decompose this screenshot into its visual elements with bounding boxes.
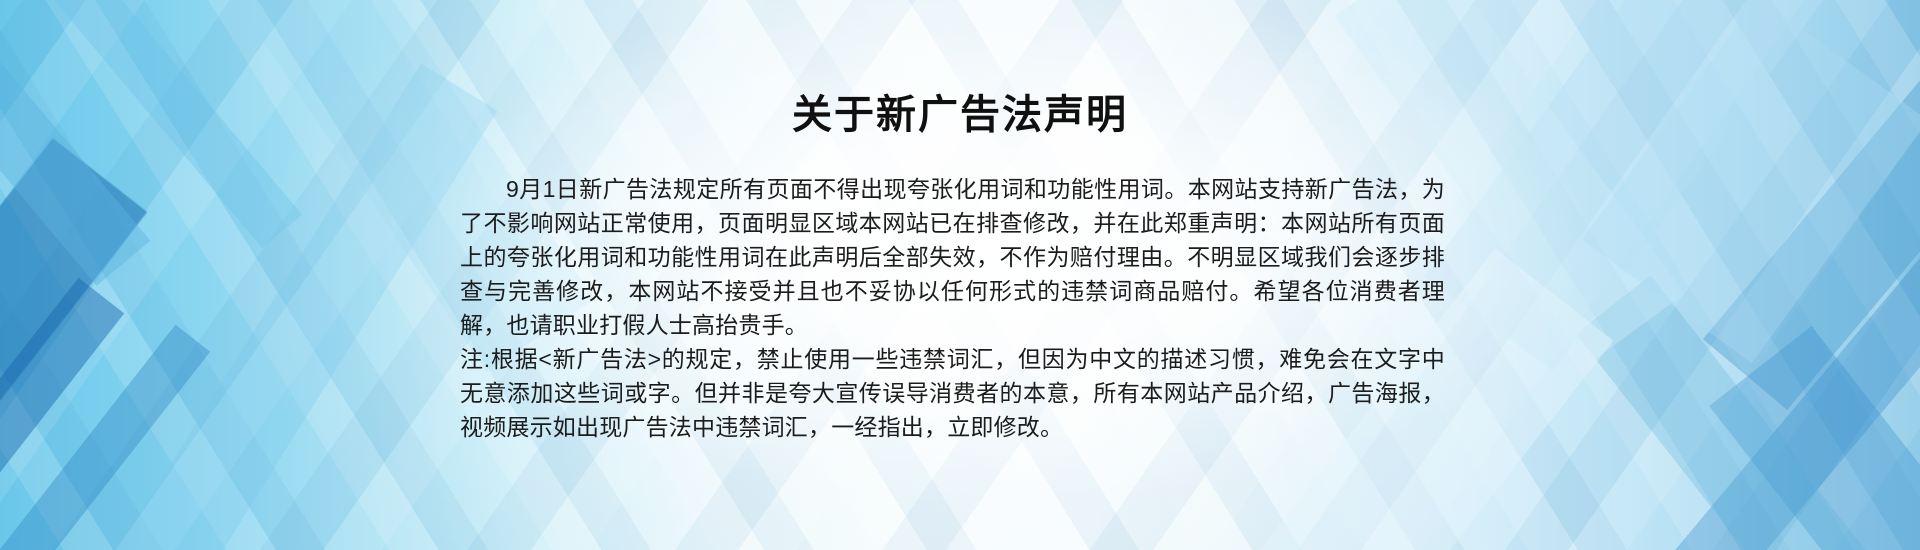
statement-paragraph-note: 注:根据<新广告法>的规定，禁止使用一些违禁词汇，但因为中文的描述习惯，难免会在… [460,342,1445,444]
advertising-law-statement-banner: 关于新广告法声明 9月1日新广告法规定所有页面不得出现夸张化用词和功能性用词。本… [0,0,1920,550]
statement-content: 关于新广告法声明 9月1日新广告法规定所有页面不得出现夸张化用词和功能性用词。本… [0,0,1920,550]
page-title: 关于新广告法声明 [0,92,1920,139]
statement-body: 9月1日新广告法规定所有页面不得出现夸张化用词和功能性用词。本网站支持新广告法，… [460,172,1445,444]
statement-paragraph-main: 9月1日新广告法规定所有页面不得出现夸张化用词和功能性用词。本网站支持新广告法，… [460,172,1445,342]
